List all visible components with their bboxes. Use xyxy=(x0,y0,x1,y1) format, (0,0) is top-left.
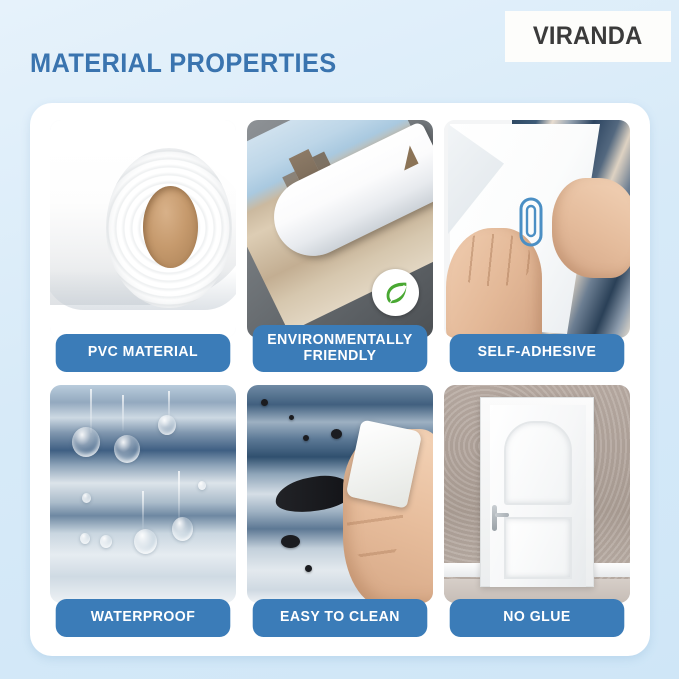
card-label-pvc-material: PVC MATERIAL xyxy=(56,334,231,372)
water-trail xyxy=(142,491,144,529)
stain-speck xyxy=(331,429,342,439)
page-title: MATERIAL PROPERTIES xyxy=(30,48,337,79)
feature-card-waterproof[interactable]: WATERPROOF xyxy=(50,385,236,637)
eco-wallpaper-image xyxy=(247,120,433,338)
pvc-roll-illustration xyxy=(50,120,236,338)
feature-card-no-glue[interactable]: NO GLUE xyxy=(444,385,630,637)
water-droplet xyxy=(80,533,90,544)
easy-to-clean-illustration xyxy=(247,385,433,603)
card-label-waterproof: WATERPROOF xyxy=(56,599,231,637)
water-trail xyxy=(122,395,124,431)
water-droplet xyxy=(172,517,193,541)
door-panel-upper xyxy=(504,421,572,505)
self-adhesive-image xyxy=(444,120,630,338)
eco-illustration xyxy=(247,120,433,338)
easy-to-clean-image xyxy=(247,385,433,603)
card-label-no-glue: NO GLUE xyxy=(450,599,625,637)
feature-card-environmentally-friendly[interactable]: ENVIRONMENTALLY FRIENDLY xyxy=(247,120,433,372)
roll-cardboard-core xyxy=(143,186,198,268)
stain-speck xyxy=(305,565,312,572)
water-trail xyxy=(90,389,92,433)
waterproof-illustration xyxy=(50,385,236,603)
pvc-roll-image xyxy=(50,120,236,338)
water-droplet xyxy=(134,529,157,554)
brand-logo-text: VIRANDA xyxy=(533,22,643,51)
self-adhesive-illustration xyxy=(444,120,630,338)
door-panel-lower xyxy=(504,517,572,579)
right-hand xyxy=(552,178,630,278)
feature-panel: PVC MATERIAL ENVIRON xyxy=(30,103,650,656)
feature-card-self-adhesive[interactable]: SELF-ADHESIVE xyxy=(444,120,630,372)
skirting-right xyxy=(594,563,630,577)
card-label-easy-to-clean: EASY TO CLEAN xyxy=(253,599,428,637)
water-droplet xyxy=(158,415,176,435)
page-header: MATERIAL PROPERTIES VIRANDA xyxy=(0,0,679,103)
waterproof-image xyxy=(50,385,236,603)
leaf-icon xyxy=(372,269,419,316)
feature-card-easy-to-clean[interactable]: EASY TO CLEAN xyxy=(247,385,433,637)
paperclip-icon xyxy=(518,196,544,253)
stain-speck xyxy=(281,535,300,548)
no-glue-image xyxy=(444,385,630,603)
stain-speck xyxy=(303,435,309,441)
stain-speck xyxy=(261,399,268,406)
feature-card-pvc-material[interactable]: PVC MATERIAL xyxy=(50,120,236,372)
water-droplet xyxy=(82,493,91,503)
card-label-self-adhesive: SELF-ADHESIVE xyxy=(450,334,625,372)
water-droplet xyxy=(198,481,206,490)
stain-speck xyxy=(289,415,294,420)
brand-logo: VIRANDA xyxy=(505,11,671,62)
door-handle-icon xyxy=(492,505,497,531)
card-label-environmentally-friendly: ENVIRONMENTALLY FRIENDLY xyxy=(253,325,428,372)
water-droplet xyxy=(114,435,140,463)
water-trail xyxy=(178,471,180,523)
feature-grid: PVC MATERIAL ENVIRON xyxy=(50,120,630,637)
skirting-left xyxy=(444,563,484,577)
water-droplet xyxy=(72,427,100,457)
door-illustration xyxy=(444,385,630,603)
water-droplet xyxy=(100,535,112,548)
